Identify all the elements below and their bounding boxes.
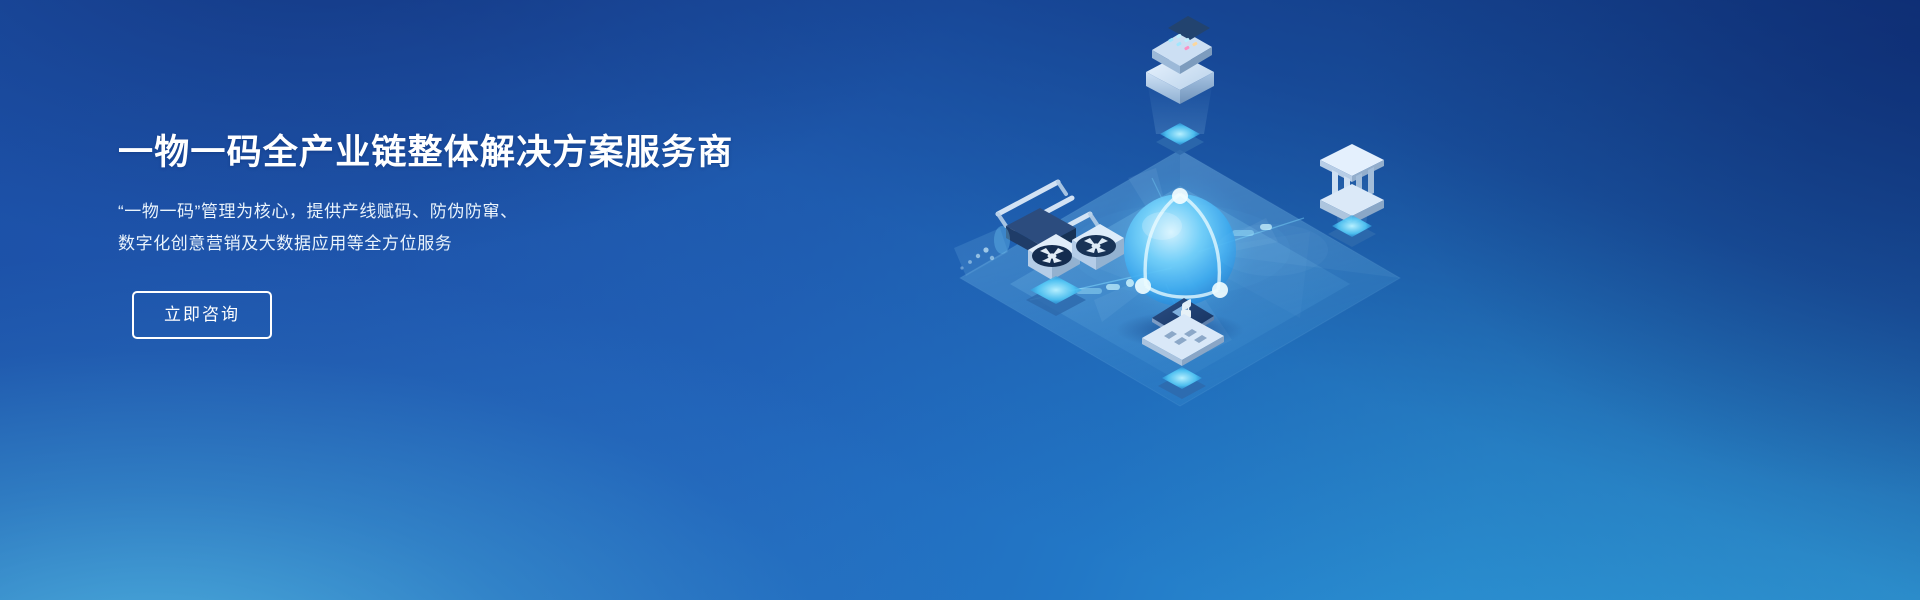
subtitle-line-1: “一物一码”管理为核心，提供产线赋码、防伪防窜、: [118, 196, 758, 228]
pos-terminal-icon: [1146, 16, 1214, 155]
isometric-network-illustration: [880, 0, 1480, 600]
consult-now-button[interactable]: 立即咨询: [132, 291, 272, 339]
subtitle-line-2: 数字化创意营销及大数据应用等全方位服务: [118, 228, 758, 260]
hero-copy-block: 一物一码全产业链整体解决方案服务商 “一物一码”管理为核心，提供产线赋码、防伪防…: [118, 132, 758, 339]
page-title: 一物一码全产业链整体解决方案服务商: [118, 132, 758, 174]
hero-banner: 一物一码全产业链整体解决方案服务商 “一物一码”管理为核心，提供产线赋码、防伪防…: [0, 0, 1920, 600]
bank-building-icon: [1320, 144, 1384, 247]
